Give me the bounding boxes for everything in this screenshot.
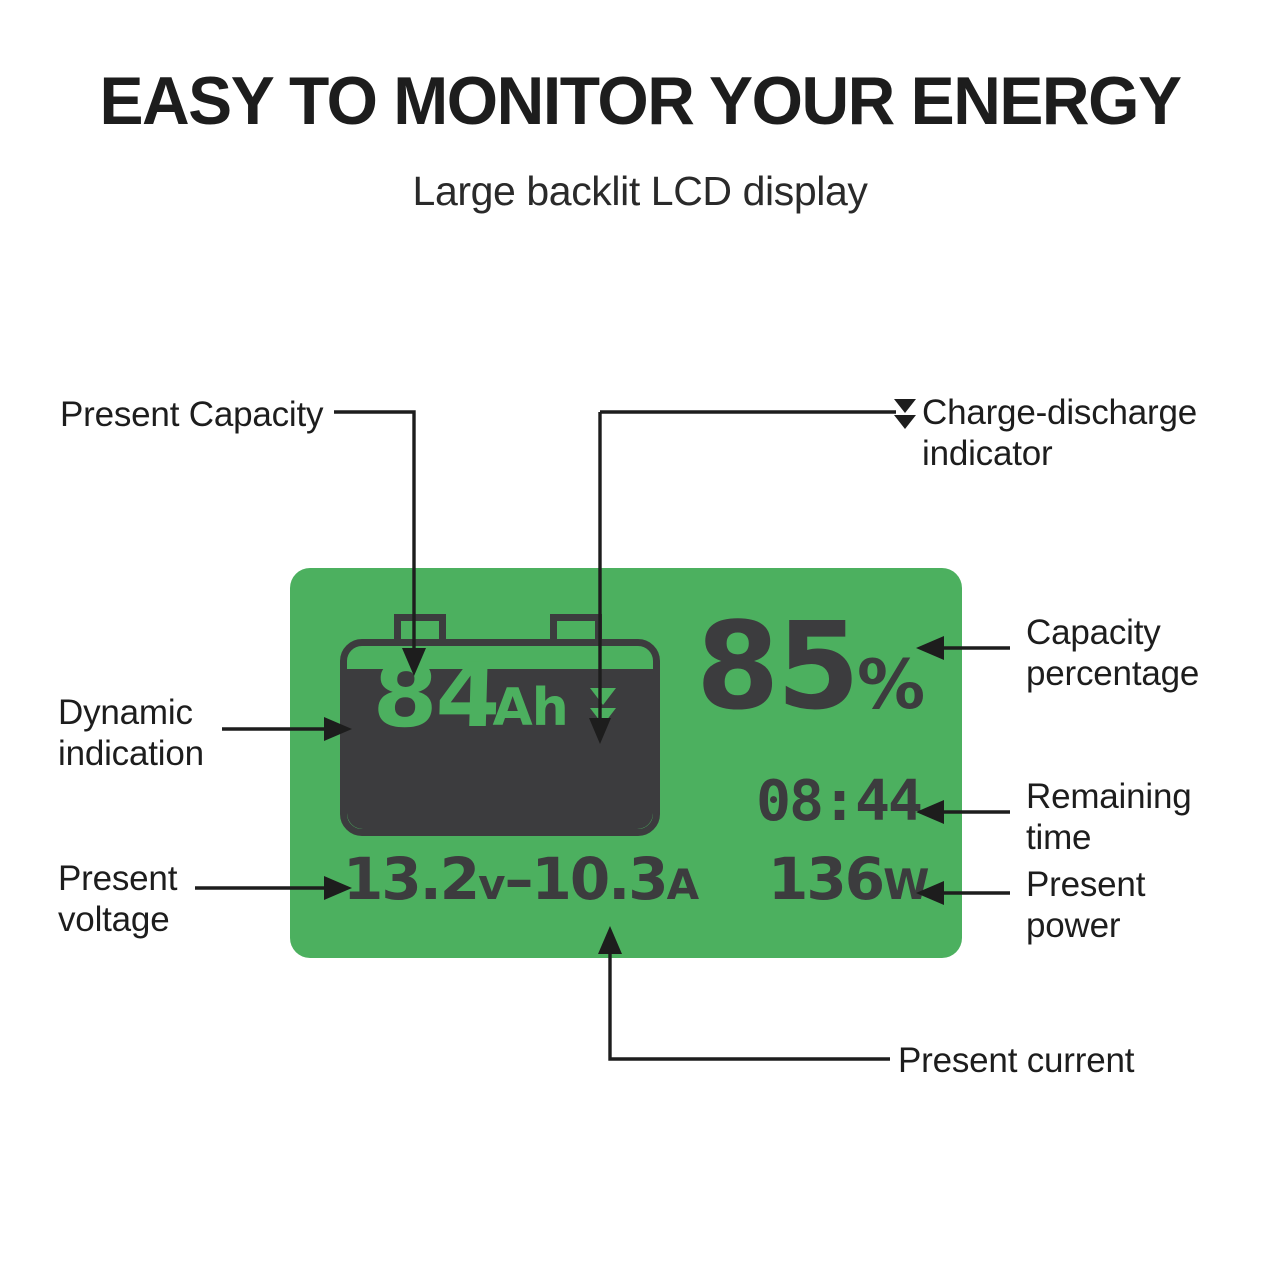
page-title: EASY TO MONITOR YOUR ENERGY	[19, 62, 1261, 140]
power-unit: W	[883, 860, 928, 909]
current-unit: A	[667, 860, 699, 909]
present-power-value: 136	[768, 845, 883, 913]
present-power-readout: 136W	[768, 850, 928, 908]
present-capacity-readout: 84 Ah	[340, 662, 660, 731]
present-voltage-value: 13.2	[343, 845, 478, 913]
voltage-unit: v	[478, 860, 504, 909]
voltage-current-readout: 13.2v–10.3A	[343, 850, 698, 908]
charge-discharge-indicator-icon	[590, 688, 616, 725]
triangle-down-lower-icon	[894, 415, 916, 429]
leader-present-current	[610, 942, 890, 1059]
capacity-percentage-value: 85	[696, 598, 857, 737]
charge-discharge-icon	[894, 399, 916, 429]
callout-charge-discharge: Charge-discharge indicator	[922, 392, 1252, 475]
voltage-current-separator: –	[505, 845, 532, 913]
capacity-percentage-readout: 85%	[696, 608, 923, 728]
present-capacity-value: 84	[372, 662, 499, 731]
present-capacity-unit: Ah	[492, 686, 567, 731]
callout-dynamic-indication: Dynamic indication	[58, 692, 288, 775]
page-subtitle: Large backlit LCD display	[0, 168, 1280, 215]
callout-present-power: Present power	[1026, 864, 1256, 947]
present-current-value: 10.3	[532, 845, 667, 913]
triangle-down-upper-icon	[894, 399, 916, 413]
callout-remaining-time: Remaining time	[1026, 776, 1256, 859]
lcd-display-panel[interactable]: 84 Ah 85% 08:44 13.2v–10.3A 136W	[290, 568, 962, 958]
callout-present-capacity: Present Capacity	[60, 394, 340, 435]
callout-present-voltage: Present voltage	[58, 858, 288, 941]
battery-icon: 84 Ah	[340, 614, 660, 836]
callout-present-current: Present current	[898, 1040, 1238, 1081]
triangle-down-upper-icon	[590, 688, 616, 705]
percent-sign: %	[857, 646, 923, 725]
remaining-time-readout: 08:44	[756, 774, 921, 830]
triangle-down-lower-icon	[590, 708, 616, 725]
callout-capacity-percentage: Capacity percentage	[1026, 612, 1256, 695]
